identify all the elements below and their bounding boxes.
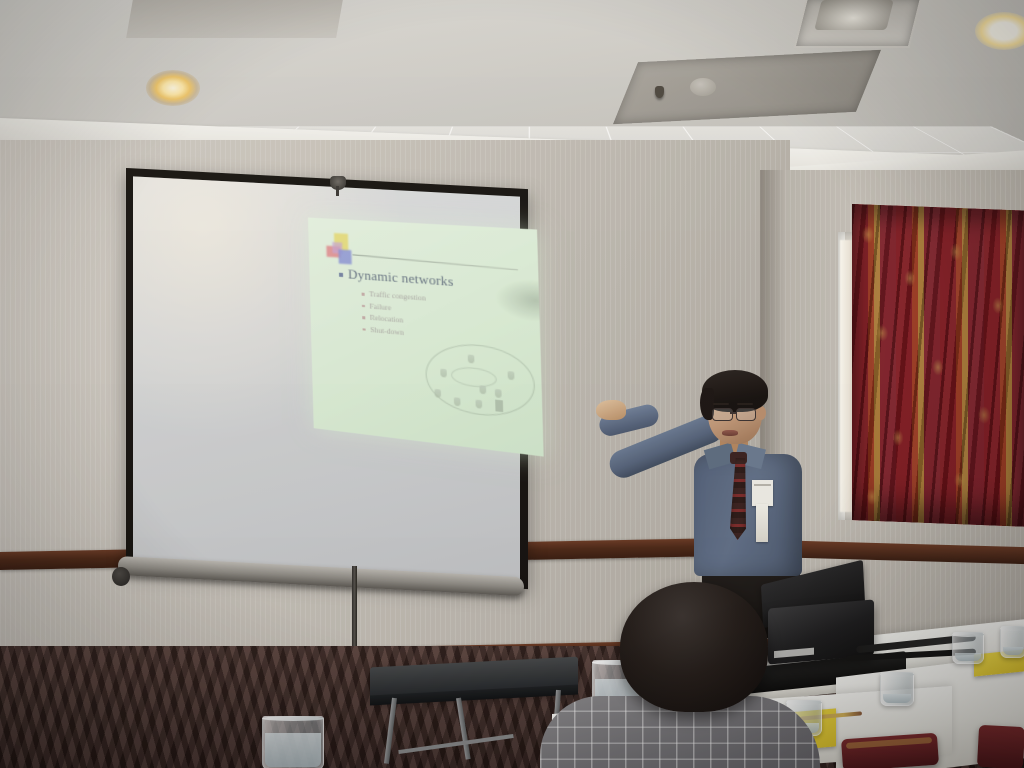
logo-square-blue	[338, 249, 351, 264]
presenter-mouth	[722, 430, 738, 436]
glass-rim	[880, 672, 914, 677]
presenter-badge-ribbon	[756, 504, 768, 542]
projected-slide: Dynamic networks Traffic congestion Fail…	[308, 218, 544, 457]
ceiling-speaker-panel	[613, 50, 881, 124]
ceiling-panel-dark	[126, 0, 344, 38]
diagram-node	[434, 389, 441, 398]
presenter-glasses-lens-right	[736, 408, 756, 421]
diagram-node	[495, 389, 502, 398]
glass-water	[265, 733, 321, 767]
slide-logo-icon	[326, 233, 357, 265]
conference-room-photo: Dynamic networks Traffic congestion Fail…	[0, 0, 1024, 768]
ceiling-air-diffuser-core	[814, 0, 893, 30]
badge-line	[754, 484, 771, 486]
glass-rim	[952, 632, 984, 637]
presenter-eyebrow-right	[737, 403, 753, 405]
glass-rim	[786, 700, 822, 705]
presenter-shirt	[694, 454, 802, 576]
water-glass	[952, 632, 984, 664]
diagram-node	[475, 400, 482, 409]
presenter-pointing-hand	[596, 400, 626, 420]
window-curtain	[852, 204, 1024, 527]
network-cloud-diagram	[425, 340, 536, 421]
curtain-floral-pattern	[852, 204, 1024, 527]
presenter-name-badge	[752, 480, 773, 506]
glass-rim	[1000, 626, 1024, 631]
presenter-glasses-bridge	[730, 412, 737, 414]
glass-rim	[262, 716, 324, 721]
glass-water	[883, 694, 911, 703]
water-glass	[880, 672, 914, 706]
glass-water	[955, 653, 981, 661]
water-glass	[262, 716, 324, 768]
diagram-node	[454, 397, 461, 406]
diagram-node	[440, 369, 447, 378]
water-glass	[1000, 626, 1024, 658]
recessed-downlight-3	[975, 12, 1024, 50]
glass-water	[1003, 647, 1023, 655]
diagram-node	[468, 354, 475, 363]
projection-screen: Dynamic networks Traffic congestion Fail…	[126, 168, 528, 589]
presenter-glasses-lens-left	[712, 408, 733, 421]
presenter-eyebrow-left	[713, 403, 729, 405]
diagram-node	[508, 371, 515, 380]
chair-back	[977, 725, 1024, 768]
projection-screen-surface: Dynamic networks Traffic congestion Fail…	[133, 176, 520, 581]
screen-hook-rod	[336, 186, 339, 196]
recessed-downlight-1	[146, 70, 200, 106]
slide-title-text: Dynamic networks	[348, 266, 454, 289]
screen-roller-end-cap	[112, 567, 130, 586]
fire-sprinkler-icon	[655, 86, 664, 98]
ceiling-speaker-grille-icon	[690, 78, 716, 96]
diagram-node	[479, 385, 486, 394]
audience-head	[620, 582, 768, 712]
projector-lens-panel	[774, 648, 814, 658]
slide-title-bullet-icon	[339, 273, 343, 277]
diagram-server-box	[495, 400, 503, 413]
